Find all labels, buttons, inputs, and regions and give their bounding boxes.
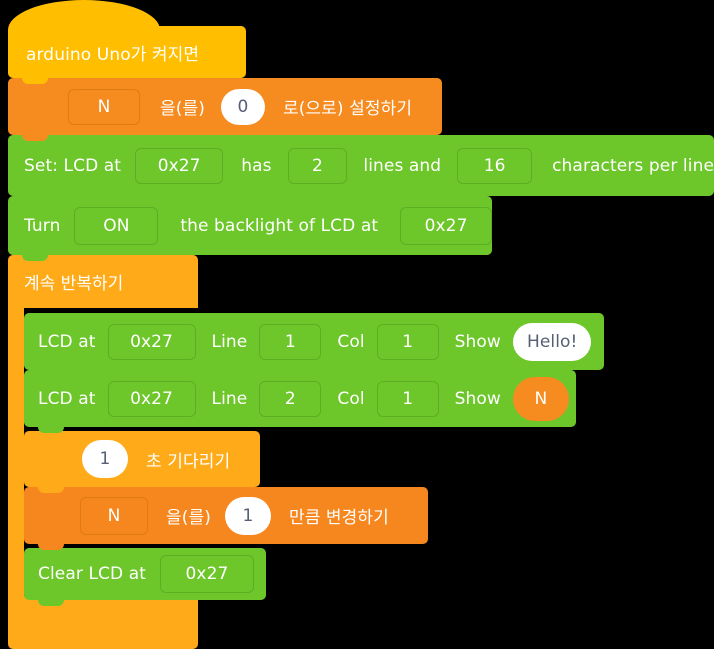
lcd-backlight-address-field[interactable]: 0x27	[400, 207, 492, 245]
lcd-clear-pre-label: Clear LCD at	[38, 564, 146, 584]
lcd-show-text-line-field[interactable]: 1	[259, 324, 321, 360]
lcd-show-text-line-label: Line	[212, 332, 248, 352]
wait-seconds-label: 초 기다리기	[146, 447, 230, 472]
set-variable-tail-label: 로(으로) 설정하기	[283, 94, 412, 119]
block-lcd-show-variable[interactable]: LCD at 0x27 Line 2 Col 1 Show N	[24, 370, 576, 427]
change-variable-mid-label: 을(를)	[166, 503, 211, 528]
lcd-show-variable-col-field[interactable]: 1	[377, 381, 439, 417]
wait-seconds-value-input[interactable]: 1	[82, 440, 128, 478]
block-lcd-show-text[interactable]: LCD at 0x27 Line 1 Col 1 Show Hello!	[24, 313, 604, 370]
set-variable-mid-label: 을(를)	[160, 94, 205, 119]
forever-loop-label: 계속 반복하기	[24, 269, 123, 294]
lcd-show-variable-col-label: Col	[337, 389, 364, 409]
lcd-show-text-pre-label: LCD at	[38, 332, 96, 352]
lcd-clear-address-field[interactable]: 0x27	[160, 555, 254, 593]
lcd-backlight-mid-label: the backlight of LCD at	[180, 216, 378, 236]
lcd-setup-pre-label: Set: LCD at	[24, 156, 121, 176]
block-lcd-clear[interactable]: Clear LCD at 0x27	[24, 548, 266, 600]
lcd-setup-tail-label: characters per line	[552, 156, 714, 176]
lcd-backlight-pre-label: Turn	[24, 216, 60, 236]
block-set-variable[interactable]: N 을(를) 0 로(으로) 설정하기	[8, 78, 442, 135]
hat-label: arduino Uno가 켜지면	[26, 40, 199, 65]
lcd-setup-address-field[interactable]: 0x27	[135, 148, 223, 184]
set-variable-value-input[interactable]: 0	[221, 89, 265, 125]
lcd-show-text-col-field[interactable]: 1	[377, 324, 439, 360]
lcd-setup-mid1-label: has	[241, 156, 271, 176]
block-wait-seconds[interactable]: 1 초 기다리기	[24, 431, 260, 487]
lcd-show-variable-pre-label: LCD at	[38, 389, 96, 409]
set-variable-name-field[interactable]: N	[68, 89, 140, 125]
lcd-show-variable-line-field[interactable]: 2	[259, 381, 321, 417]
lcd-show-text-address-field[interactable]: 0x27	[108, 324, 196, 360]
change-variable-value-input[interactable]: 1	[225, 497, 271, 535]
lcd-show-variable-show-label: Show	[455, 389, 501, 409]
lcd-show-variable-value-reporter[interactable]: N	[513, 377, 569, 421]
lcd-setup-lines-field[interactable]: 2	[288, 148, 348, 184]
lcd-setup-chars-field[interactable]: 16	[457, 148, 532, 184]
lcd-show-variable-address-field[interactable]: 0x27	[108, 381, 196, 417]
lcd-show-text-col-label: Col	[337, 332, 364, 352]
change-variable-tail-label: 만큼 변경하기	[289, 503, 389, 528]
lcd-show-text-show-label: Show	[455, 332, 501, 352]
lcd-backlight-state-field[interactable]: ON	[74, 207, 158, 245]
lcd-setup-mid2-label: lines and	[363, 156, 441, 176]
forever-loop-foot	[8, 596, 198, 649]
forever-loop-header[interactable]: 계속 반복하기	[8, 255, 198, 308]
change-variable-name-field[interactable]: N	[80, 497, 148, 535]
block-canvas: arduino Uno가 켜지면 N 을(를) 0 로(으로) 설정하기 Set…	[0, 0, 714, 649]
forever-loop-spine	[8, 308, 24, 596]
block-lcd-setup[interactable]: Set: LCD at 0x27 has 2 lines and 16 char…	[8, 135, 714, 196]
block-hat-on-start[interactable]: arduino Uno가 켜지면	[8, 26, 246, 78]
block-change-variable[interactable]: N 을(를) 1 만큼 변경하기	[24, 487, 428, 544]
lcd-show-variable-line-label: Line	[212, 389, 248, 409]
lcd-show-text-value-input[interactable]: Hello!	[513, 323, 592, 361]
block-lcd-backlight[interactable]: Turn ON the backlight of LCD at 0x27	[8, 196, 492, 255]
